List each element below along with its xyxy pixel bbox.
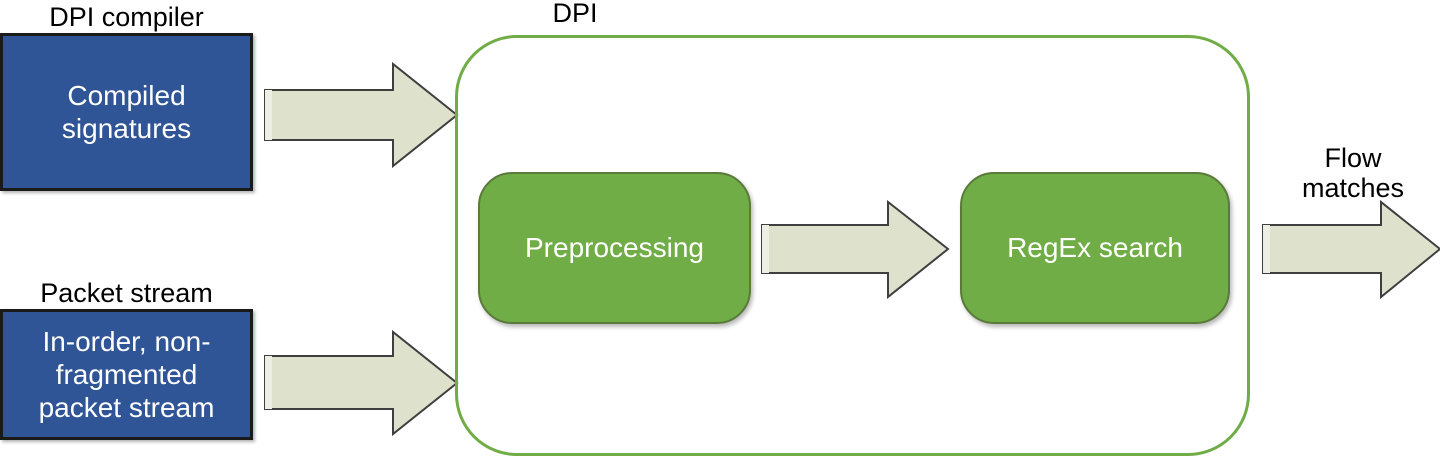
arrow-preprocessing-to-regex <box>762 200 952 300</box>
flow-matches-label: Flow matches <box>1288 143 1418 203</box>
regex-search-box[interactable]: RegEx search <box>960 172 1230 324</box>
arrow-signatures-to-dpi <box>265 60 460 170</box>
packet-stream-text: In-order, non- fragmented packet stream <box>39 325 215 424</box>
preprocessing-text: Preprocessing <box>525 232 704 264</box>
compiled-signatures-box[interactable]: Compiled signatures <box>0 33 253 191</box>
arrow-packets-to-dpi <box>265 332 460 437</box>
diagram-canvas: DPI compiler Compiled signatures Packet … <box>0 0 1440 461</box>
dpi-label: DPI <box>510 0 640 28</box>
arrow-tail-highlight <box>265 356 272 409</box>
arrow-shape <box>265 64 457 166</box>
arrow-dpi-to-flow-matches <box>1263 200 1440 300</box>
regex-search-text: RegEx search <box>1007 232 1183 264</box>
dpi-compiler-label: DPI compiler <box>0 2 253 32</box>
packet-stream-box[interactable]: In-order, non- fragmented packet stream <box>0 309 253 440</box>
arrow-shape <box>762 202 948 297</box>
packet-stream-label: Packet stream <box>0 278 253 308</box>
preprocessing-box[interactable]: Preprocessing <box>478 172 751 324</box>
arrow-shape <box>265 332 457 434</box>
arrow-tail-highlight <box>1263 225 1270 273</box>
arrow-tail-highlight <box>762 225 769 273</box>
arrow-shape <box>1263 202 1440 297</box>
arrow-tail-highlight <box>265 90 272 140</box>
compiled-signatures-text: Compiled signatures <box>62 79 191 145</box>
